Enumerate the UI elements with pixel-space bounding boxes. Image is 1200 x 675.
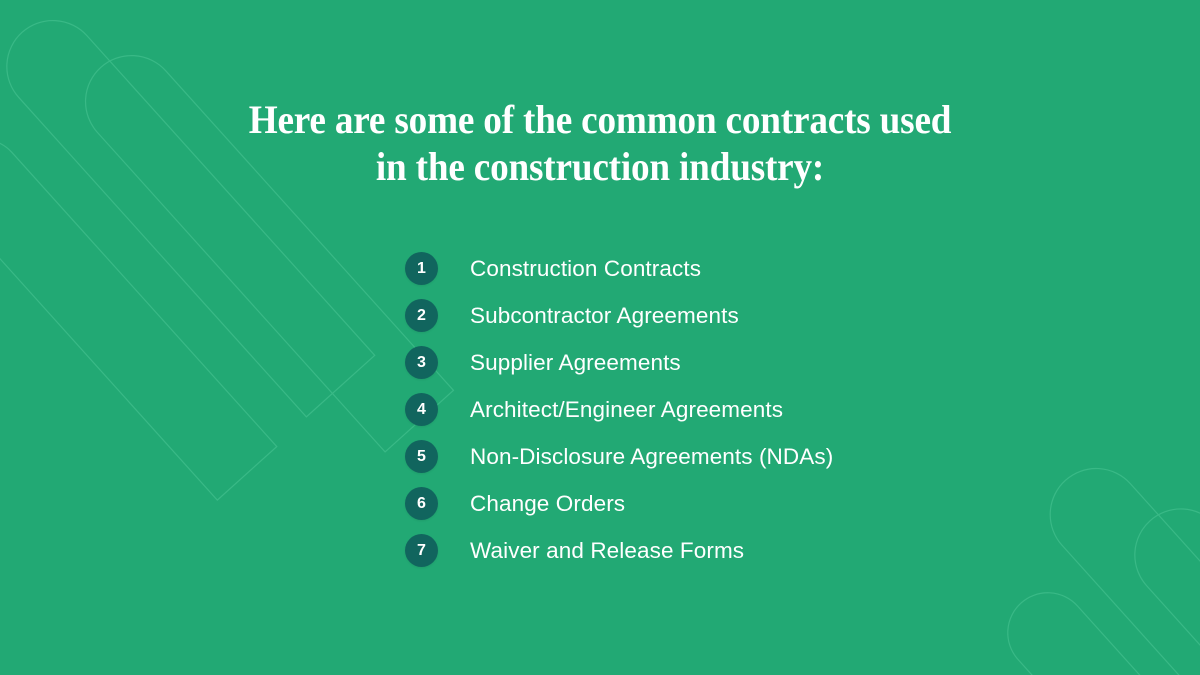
list-item: 1 Construction Contracts — [405, 248, 1005, 289]
contract-type-list: 1 Construction Contracts 2 Subcontractor… — [405, 248, 1005, 577]
list-item-number-badge: 2 — [405, 299, 438, 332]
list-item: 5 Non-Disclosure Agreements (NDAs) — [405, 436, 1005, 477]
list-item-label: Subcontractor Agreements — [470, 302, 739, 330]
list-item-label: Non-Disclosure Agreements (NDAs) — [470, 443, 833, 471]
list-item: 6 Change Orders — [405, 483, 1005, 524]
page-title: Here are some of the common contracts us… — [0, 96, 1200, 190]
list-item-number-badge: 6 — [405, 487, 438, 520]
list-item-label: Supplier Agreements — [470, 349, 681, 377]
list-item-label: Construction Contracts — [470, 255, 701, 283]
list-item-number-badge: 5 — [405, 440, 438, 473]
list-item-number-badge: 4 — [405, 393, 438, 426]
list-item: 3 Supplier Agreements — [405, 342, 1005, 383]
list-item-number-badge: 1 — [405, 252, 438, 285]
list-item-number-badge: 7 — [405, 534, 438, 567]
decor-shapes-top-left — [0, 2, 453, 501]
list-item-label: Waiver and Release Forms — [470, 537, 744, 565]
decor-shapes-bottom-right — [991, 450, 1200, 675]
list-item-label: Change Orders — [470, 490, 625, 518]
title-line-2: in the construction industry: — [42, 143, 1158, 190]
list-item: 7 Waiver and Release Forms — [405, 530, 1005, 571]
slide-canvas: Here are some of the common contracts us… — [0, 0, 1200, 675]
list-item-label: Architect/Engineer Agreements — [470, 396, 783, 424]
list-item-number-badge: 3 — [405, 346, 438, 379]
list-item: 4 Architect/Engineer Agreements — [405, 389, 1005, 430]
list-item: 2 Subcontractor Agreements — [405, 295, 1005, 336]
title-line-1: Here are some of the common contracts us… — [42, 96, 1158, 143]
